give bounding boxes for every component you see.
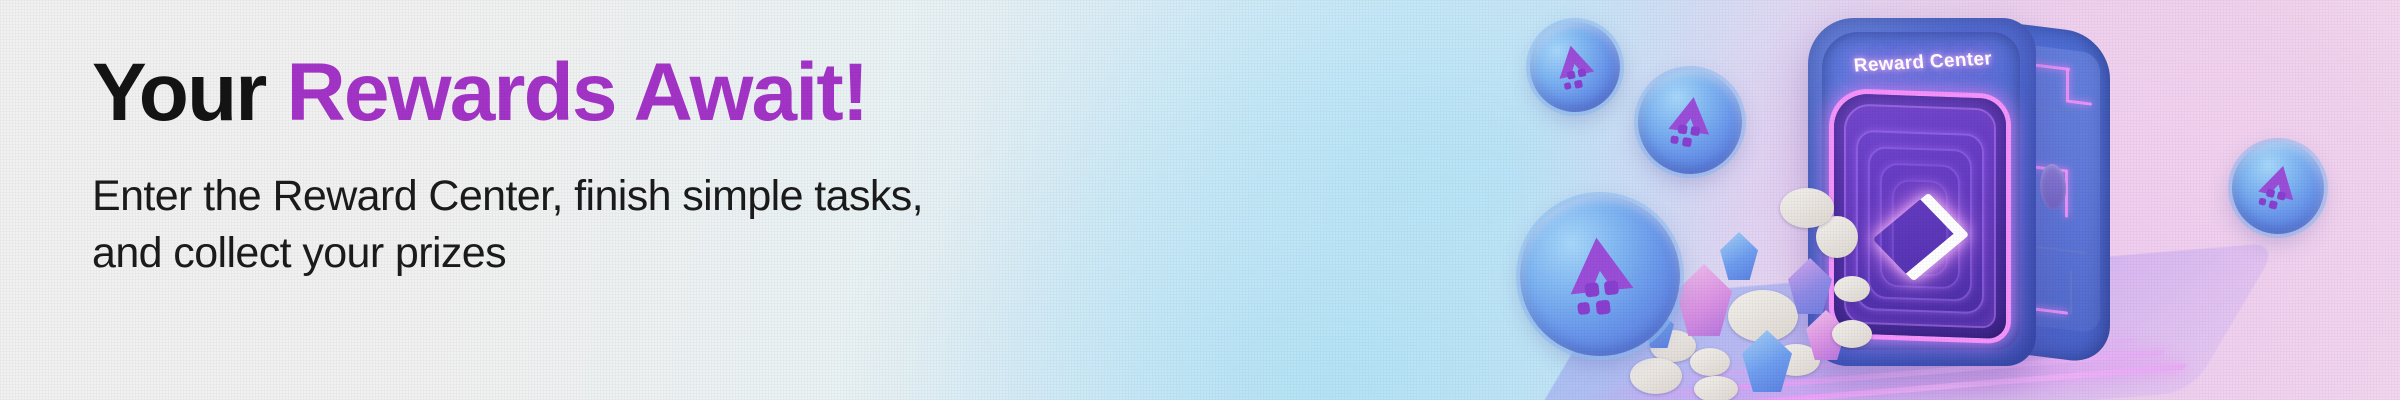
subtitle-line-1: Enter the Reward Center, finish simple t… bbox=[92, 168, 923, 225]
reward-promo-banner: Your Rewards Await! Enter the Reward Cen… bbox=[0, 0, 2400, 400]
reward-center-illustration: Reward Center bbox=[1490, 0, 2400, 400]
reward-token-glyph-icon bbox=[2246, 156, 2311, 221]
headline-plain-text: Your bbox=[92, 47, 286, 138]
reward-token-coin-right bbox=[2222, 132, 2334, 244]
reward-token-coin-upper-mid bbox=[1631, 63, 1748, 180]
banner-copy-block: Your Rewards Await! Enter the Reward Cen… bbox=[92, 52, 923, 282]
reward-token-glyph-icon bbox=[1544, 36, 1606, 98]
banner-headline: Your Rewards Await! bbox=[92, 52, 923, 134]
reward-token-glyph-icon bbox=[1549, 225, 1651, 327]
reward-token-coin-top-left bbox=[1522, 14, 1629, 121]
headline-accent-text: Rewards Await! bbox=[286, 47, 867, 138]
subtitle-line-2: and collect your prizes bbox=[92, 225, 923, 282]
reward-token-glyph-icon bbox=[1656, 88, 1724, 156]
banner-subtitle: Enter the Reward Center, finish simple t… bbox=[92, 168, 923, 282]
